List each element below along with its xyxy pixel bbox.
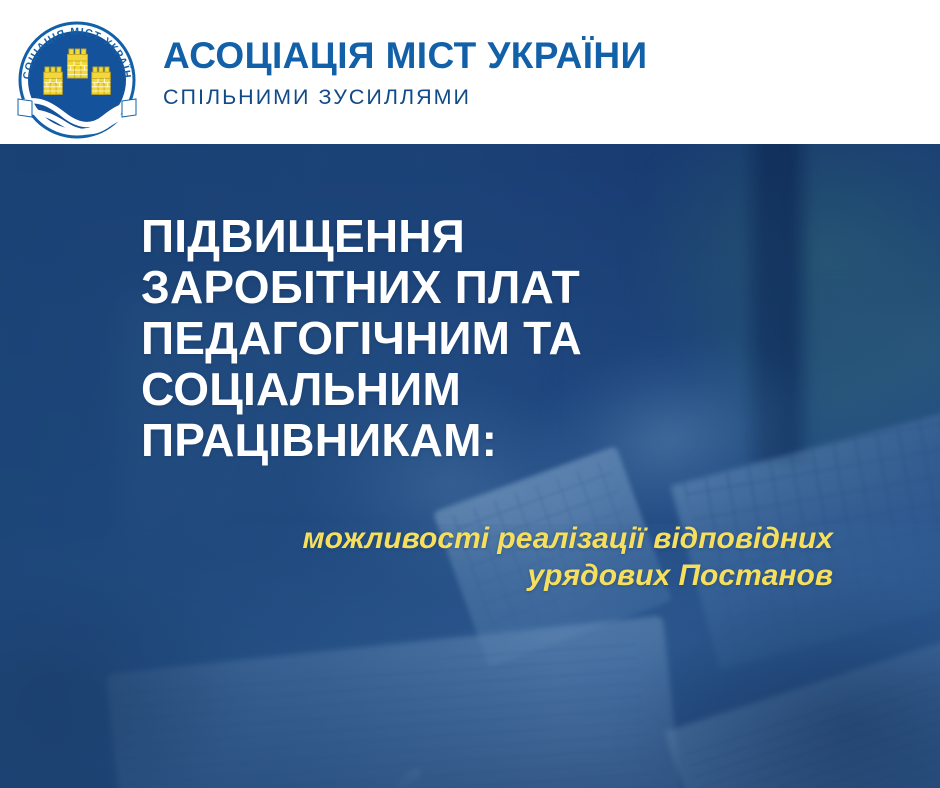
headline-line-3: ПЕДАГОГІЧНИМ ТА <box>141 313 701 364</box>
amu-emblem-logo: АСОЦІАЦІЯ МІСТ УКРАЇНИ <box>12 14 142 140</box>
brand-subtitle: СПІЛЬНИМИ ЗУСИЛЛЯМИ <box>163 85 647 110</box>
hero-stage: ПІДВИЩЕННЯ ЗАРОБІТНИХ ПЛАТ ПЕДАГОГІЧНИМ … <box>0 144 940 788</box>
poster-banner: АСОЦІАЦІЯ МІСТ УКРАЇНИ <box>0 0 940 788</box>
subtitle-line-1: можливості реалізації відповідних <box>180 520 833 557</box>
headline-line-5: ПРАЦІВНИКАМ: <box>141 415 701 466</box>
hero-subtitle: можливості реалізації відповідних урядов… <box>180 520 833 594</box>
brand-title: АСОЦІАЦІЯ МІСТ УКРАЇНИ <box>163 34 647 77</box>
header-bar: АСОЦІАЦІЯ МІСТ УКРАЇНИ <box>0 0 940 144</box>
headline-line-1: ПІДВИЩЕННЯ <box>141 211 701 262</box>
subtitle-line-2: урядових Постанов <box>180 557 833 594</box>
brand-block: АСОЦІАЦІЯ МІСТ УКРАЇНИ СПІЛЬНИМИ ЗУСИЛЛЯ… <box>163 34 647 110</box>
headline-line-4: СОЦІАЛЬНИМ <box>141 364 701 415</box>
hero-headline: ПІДВИЩЕННЯ ЗАРОБІТНИХ ПЛАТ ПЕДАГОГІЧНИМ … <box>141 211 701 466</box>
headline-line-2: ЗАРОБІТНИХ ПЛАТ <box>141 262 701 313</box>
